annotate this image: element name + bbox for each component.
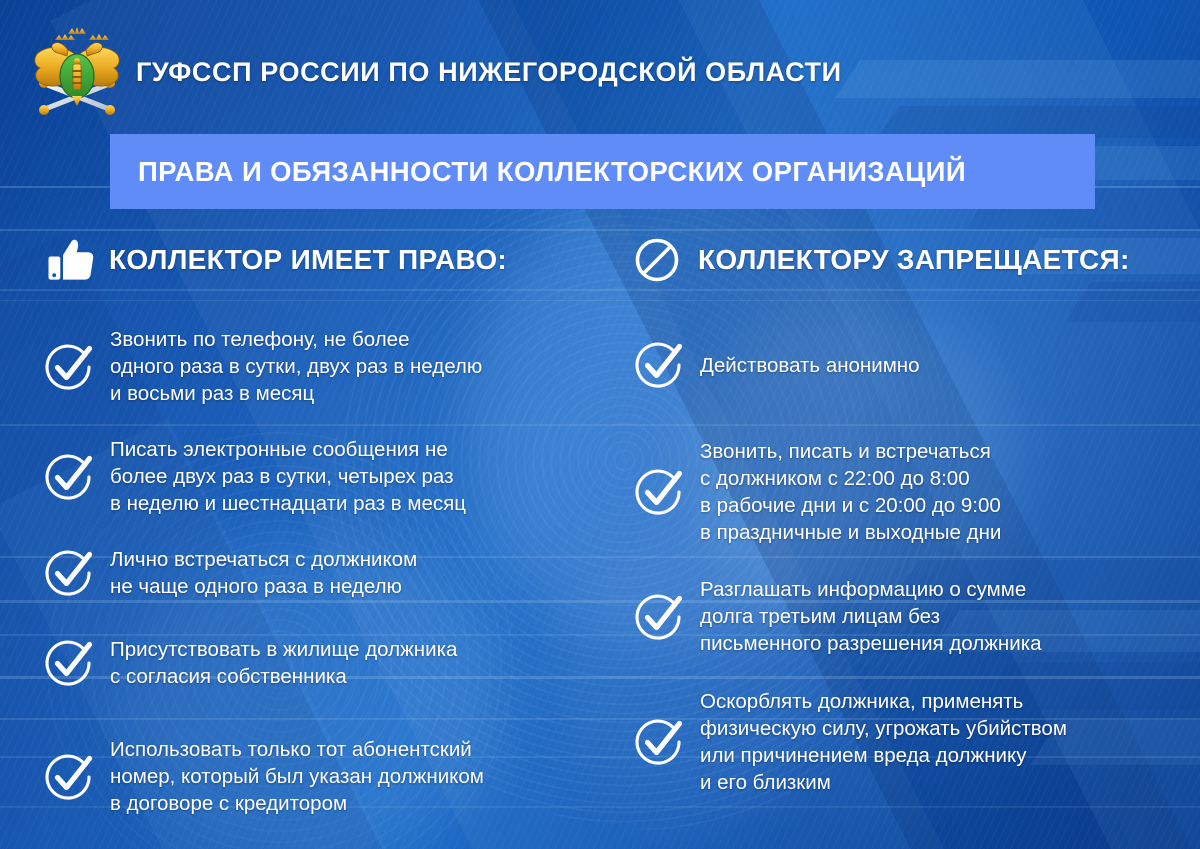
check-circle-icon bbox=[44, 638, 94, 688]
list-item-text: Использовать только тот абонентский номе… bbox=[110, 736, 484, 817]
check-circle-icon bbox=[44, 342, 94, 392]
list-item: Использовать только тот абонентский номе… bbox=[44, 736, 484, 817]
check-circle-icon bbox=[44, 452, 94, 502]
list-item-text: Действовать анонимно bbox=[700, 352, 920, 379]
check-circle-icon bbox=[634, 340, 684, 390]
list-item-text: Оскорблять должника, применять физическу… bbox=[700, 688, 1067, 796]
poster-title: ПРАВА И ОБЯЗАННОСТИ КОЛЛЕКТОРСКИХ ОРГАНИ… bbox=[138, 156, 966, 188]
infographic-poster: ГУФССП РОССИИ ПО НИЖЕГОРОДСКОЙ ОБЛАСТИ П… bbox=[0, 0, 1200, 849]
prohibited-column-heading: КОЛЛЕКТОРУ ЗАПРЕЩАЕТСЯ: bbox=[698, 244, 1130, 276]
list-item: Оскорблять должника, применять физическу… bbox=[634, 688, 1067, 796]
list-item: Писать электронные сообщения не более дв… bbox=[44, 436, 466, 517]
check-circle-icon bbox=[634, 592, 684, 642]
check-circle-icon bbox=[44, 548, 94, 598]
list-item-text: Писать электронные сообщения не более дв… bbox=[110, 436, 466, 517]
list-item: Звонить, писать и встречаться с должнико… bbox=[634, 438, 1001, 546]
list-item-text: Звонить по телефону, не более одного раз… bbox=[110, 326, 482, 407]
organization-title: ГУФССП РОССИИ ПО НИЖЕГОРОДСКОЙ ОБЛАСТИ bbox=[136, 57, 842, 88]
list-item: Звонить по телефону, не более одного раз… bbox=[44, 326, 482, 407]
list-item-text: Присутствовать в жилище должника с согла… bbox=[110, 636, 457, 690]
fssp-double-headed-eagle-emblem bbox=[28, 26, 126, 118]
allowed-column: КОЛЛЕКТОР ИМЕЕТ ПРАВО: Звонить по телефо… bbox=[44, 232, 624, 288]
list-item: Действовать анонимно bbox=[634, 340, 920, 390]
thumbs-up-icon bbox=[44, 237, 100, 283]
list-item-text: Разглашать информацию о сумме долга трет… bbox=[700, 576, 1042, 657]
check-circle-icon bbox=[44, 752, 94, 802]
poster-title-banner: ПРАВА И ОБЯЗАННОСТИ КОЛЛЕКТОРСКИХ ОРГАНИ… bbox=[110, 134, 1095, 209]
allowed-column-heading: КОЛЛЕКТОР ИМЕЕТ ПРАВО: bbox=[109, 244, 507, 276]
list-item-text: Лично встречаться с должником не чаще од… bbox=[110, 546, 417, 600]
check-circle-icon bbox=[634, 467, 684, 517]
list-item: Лично встречаться с должником не чаще од… bbox=[44, 546, 417, 600]
prohibition-icon bbox=[634, 237, 682, 283]
list-item-text: Звонить, писать и встречаться с должнико… bbox=[700, 438, 1001, 546]
list-item: Разглашать информацию о сумме долга трет… bbox=[634, 576, 1042, 657]
prohibited-column: КОЛЛЕКТОРУ ЗАПРЕЩАЕТСЯ: Действовать анон… bbox=[634, 232, 1200, 288]
allowed-column-header: КОЛЛЕКТОР ИМЕЕТ ПРАВО: bbox=[44, 232, 624, 288]
page-header: ГУФССП РОССИИ ПО НИЖЕГОРОДСКОЙ ОБЛАСТИ bbox=[0, 0, 1200, 118]
list-item: Присутствовать в жилище должника с согла… bbox=[44, 636, 457, 690]
check-circle-icon bbox=[634, 717, 684, 767]
prohibited-column-header: КОЛЛЕКТОРУ ЗАПРЕЩАЕТСЯ: bbox=[634, 232, 1200, 288]
